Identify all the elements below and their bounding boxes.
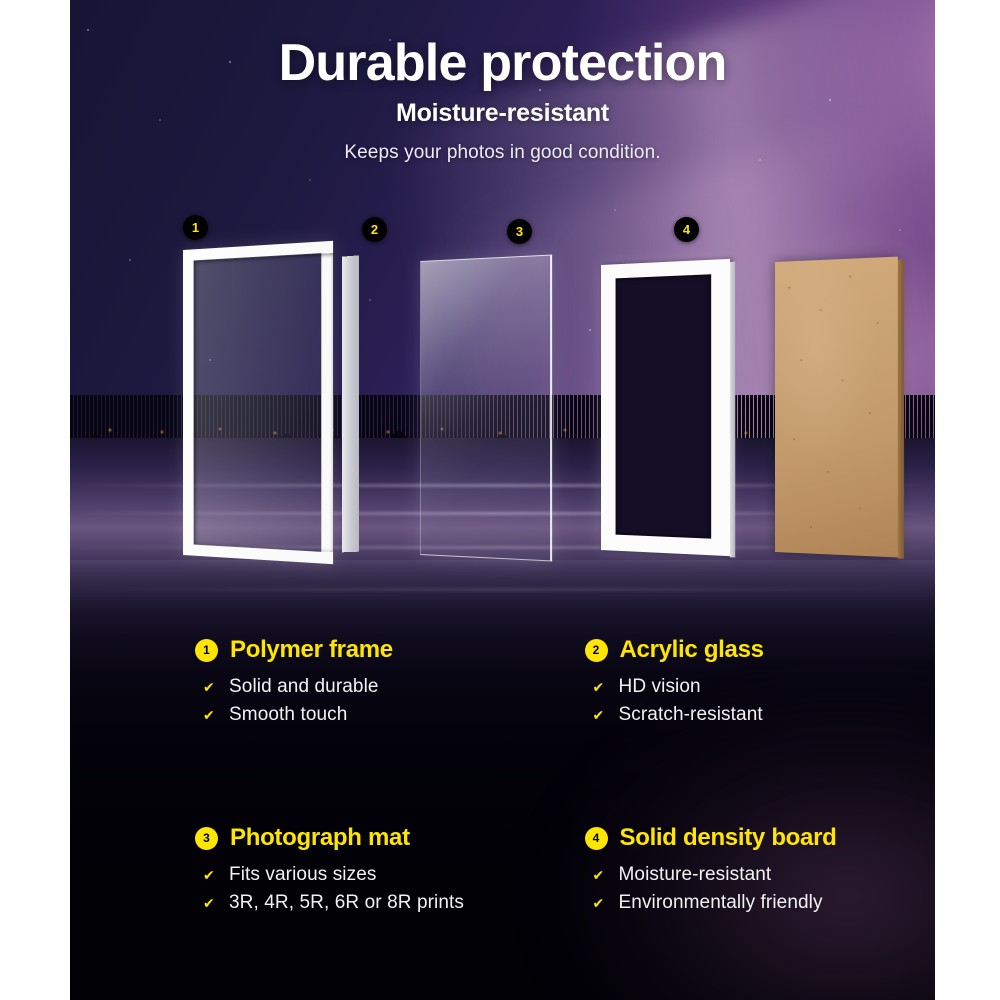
page-subtitle: Moisture-resistant	[70, 99, 935, 128]
bullet-text: Solid and durable	[229, 676, 379, 698]
part-polymer-frame	[183, 250, 343, 555]
bullet-text: Moisture-resistant	[619, 864, 772, 886]
feature-header: 1 Polymer frame	[195, 636, 503, 664]
feature-block-4: 4 Solid density board ✔ Moisture-resista…	[503, 824, 936, 914]
part-acrylic-glass	[420, 254, 552, 561]
check-icon: ✔	[593, 707, 619, 724]
bullet-text: Fits various sizes	[229, 864, 377, 886]
feature-bullets-1: ✔ Solid and durable ✔ Smooth touch	[195, 676, 503, 726]
list-item: ✔ Solid and durable	[203, 676, 503, 698]
feature-list-section: 1 Polymer frame ✔ Solid and durable ✔ Sm…	[70, 636, 935, 914]
dark-content-panel: Durable protection Moisture-resistant Ke…	[70, 0, 935, 1000]
feature-header: 2 Acrylic glass	[585, 636, 936, 664]
check-icon: ✔	[593, 867, 619, 884]
bullet-text: Smooth touch	[229, 704, 347, 726]
callout-badge-2: 2	[362, 217, 387, 242]
feature-bullets-3: ✔ Fits various sizes ✔ 3R, 4R, 5R, 6R or…	[195, 864, 503, 914]
feature-row-top: 1 Polymer frame ✔ Solid and durable ✔ Sm…	[70, 636, 935, 726]
callout-badge-4: 4	[674, 217, 699, 242]
check-icon: ✔	[203, 895, 229, 912]
bullet-text: Scratch-resistant	[619, 704, 763, 726]
infographic-page: Durable protection Moisture-resistant Ke…	[0, 0, 1000, 1000]
list-item: ✔ Scratch-resistant	[593, 704, 936, 726]
bullet-text: 3R, 4R, 5R, 6R or 8R prints	[229, 892, 464, 914]
feature-badge-4: 4	[585, 827, 608, 850]
list-item: ✔ Fits various sizes	[203, 864, 503, 886]
list-item: ✔ Moisture-resistant	[593, 864, 936, 886]
bullet-text: HD vision	[619, 676, 701, 698]
callout-badge-1: 1	[183, 215, 208, 240]
feature-title-1: Polymer frame	[230, 636, 393, 664]
feature-title-2: Acrylic glass	[620, 636, 764, 664]
feature-badge-1: 1	[195, 639, 218, 662]
feature-block-3: 3 Photograph mat ✔ Fits various sizes ✔ …	[70, 824, 503, 914]
bullet-text: Environmentally friendly	[619, 892, 823, 914]
check-icon: ✔	[203, 679, 229, 696]
feature-bullets-4: ✔ Moisture-resistant ✔ Environmentally f…	[585, 864, 936, 914]
feature-badge-3: 3	[195, 827, 218, 850]
feature-bullets-2: ✔ HD vision ✔ Scratch-resistant	[585, 676, 936, 726]
callout-badge-3: 3	[507, 219, 532, 244]
list-item: ✔ Smooth touch	[203, 704, 503, 726]
feature-row-bottom: 3 Photograph mat ✔ Fits various sizes ✔ …	[70, 824, 935, 914]
check-icon: ✔	[203, 867, 229, 884]
check-icon: ✔	[593, 679, 619, 696]
feature-block-2: 2 Acrylic glass ✔ HD vision ✔ Scratch-re…	[503, 636, 936, 726]
list-item: ✔ Environmentally friendly	[593, 892, 936, 914]
feature-header: 3 Photograph mat	[195, 824, 503, 852]
feature-header: 4 Solid density board	[585, 824, 936, 852]
list-item: ✔ 3R, 4R, 5R, 6R or 8R prints	[203, 892, 503, 914]
feature-badge-2: 2	[585, 639, 608, 662]
check-icon: ✔	[203, 707, 229, 724]
feature-title-4: Solid density board	[620, 824, 837, 852]
check-icon: ✔	[593, 895, 619, 912]
feature-title-3: Photograph mat	[230, 824, 410, 852]
page-tagline: Keeps your photos in good condition.	[70, 142, 935, 164]
exploded-diagram: 1 2 3 4	[70, 215, 935, 595]
page-title: Durable protection	[70, 36, 935, 91]
header-block: Durable protection Moisture-resistant Ke…	[70, 0, 935, 164]
part-solid-density-board	[775, 257, 898, 558]
part-photograph-mat	[601, 259, 730, 556]
feature-block-1: 1 Polymer frame ✔ Solid and durable ✔ Sm…	[70, 636, 503, 726]
list-item: ✔ HD vision	[593, 676, 936, 698]
